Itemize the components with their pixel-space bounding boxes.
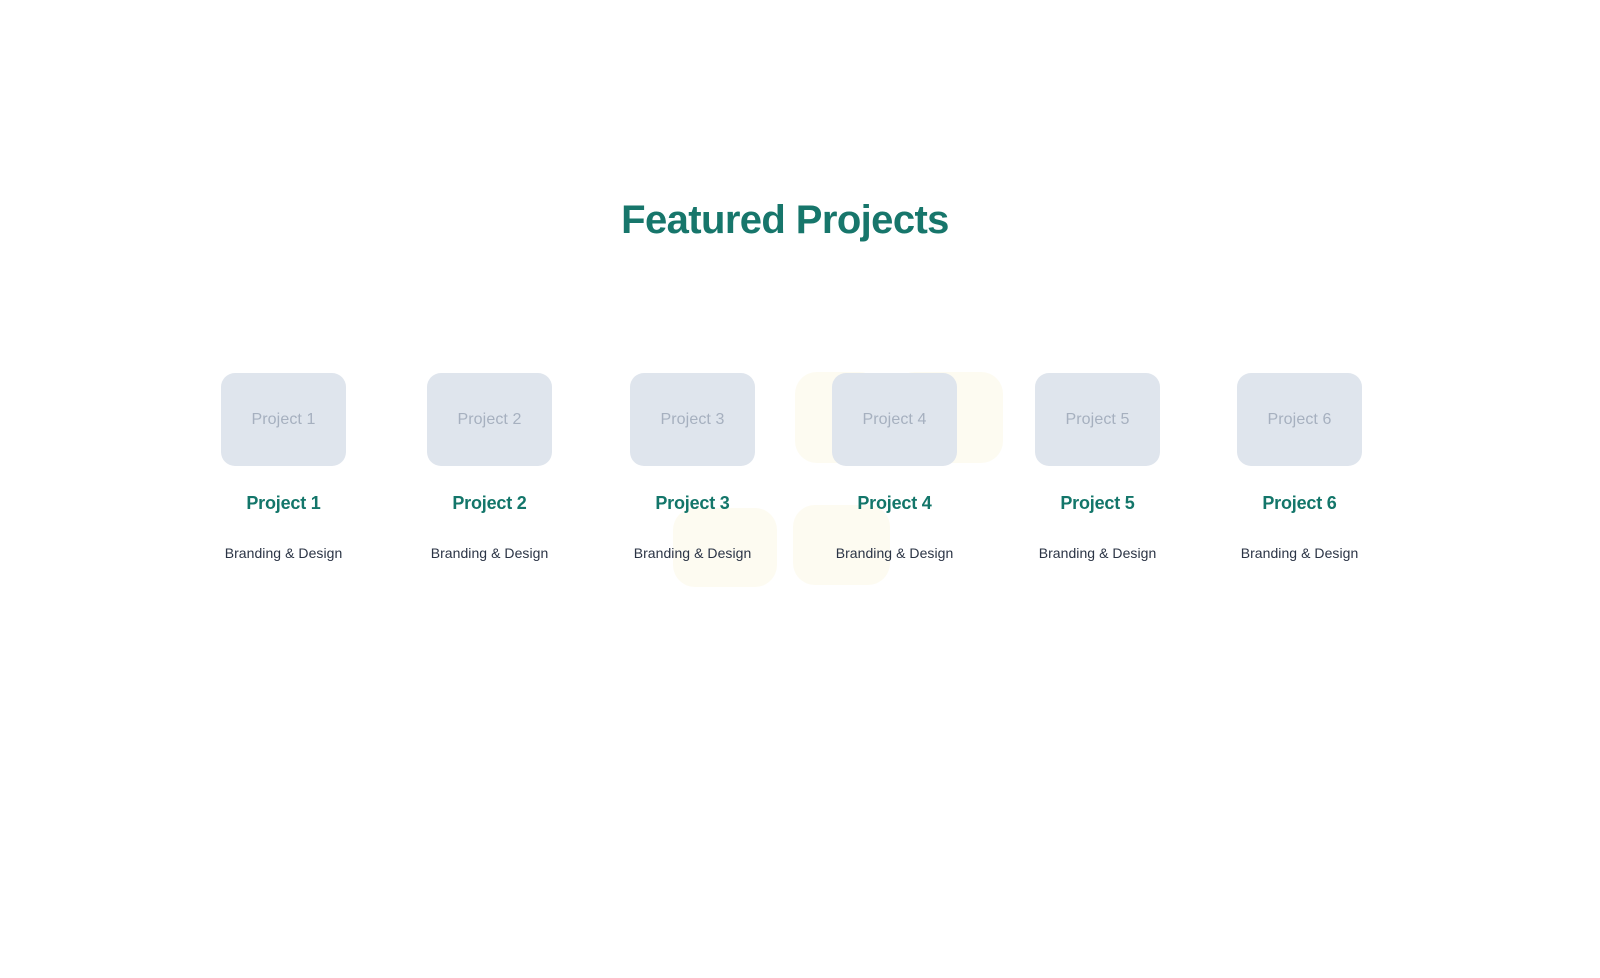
project-title[interactable]: Project 3 (630, 492, 755, 514)
project-thumbnail-label: Project 4 (862, 411, 926, 429)
project-card[interactable]: Project 6 Project 6 Branding & Design (1237, 373, 1362, 562)
project-thumbnail[interactable]: Project 3 (630, 373, 755, 466)
page-title: Featured Projects (0, 196, 1570, 244)
project-card[interactable]: Project 2 Project 2 Branding & Design (427, 373, 552, 562)
project-category: Branding & Design (221, 544, 346, 562)
project-category: Branding & Design (630, 544, 755, 562)
project-thumbnail[interactable]: Project 2 (427, 373, 552, 466)
featured-projects-page: Featured Projects Project 1 Project 1 Br… (0, 0, 1600, 978)
project-thumbnail-label: Project 2 (457, 411, 521, 429)
project-thumbnail[interactable]: Project 1 (221, 373, 346, 466)
project-thumbnail[interactable]: Project 5 (1035, 373, 1160, 466)
project-thumbnail-label: Project 6 (1267, 411, 1331, 429)
project-card[interactable]: Project 1 Project 1 Branding & Design (221, 373, 346, 562)
project-title[interactable]: Project 5 (1035, 492, 1160, 514)
project-category: Branding & Design (1237, 544, 1362, 562)
project-category: Branding & Design (1035, 544, 1160, 562)
project-thumbnail-label: Project 3 (660, 411, 724, 429)
project-category: Branding & Design (832, 544, 957, 562)
project-card[interactable]: Project 4 Project 4 Branding & Design (832, 373, 957, 562)
project-card[interactable]: Project 3 Project 3 Branding & Design (630, 373, 755, 562)
project-title[interactable]: Project 1 (221, 492, 346, 514)
projects-grid: Project 1 Project 1 Branding & Design Pr… (215, 373, 1385, 593)
project-category: Branding & Design (427, 544, 552, 562)
project-thumbnail[interactable]: Project 6 (1237, 373, 1362, 466)
project-thumbnail-label: Project 5 (1065, 411, 1129, 429)
project-thumbnail[interactable]: Project 4 (832, 373, 957, 466)
project-thumbnail-label: Project 1 (251, 411, 315, 429)
project-card[interactable]: Project 5 Project 5 Branding & Design (1035, 373, 1160, 562)
project-title[interactable]: Project 6 (1237, 492, 1362, 514)
project-title[interactable]: Project 4 (832, 492, 957, 514)
project-title[interactable]: Project 2 (427, 492, 552, 514)
